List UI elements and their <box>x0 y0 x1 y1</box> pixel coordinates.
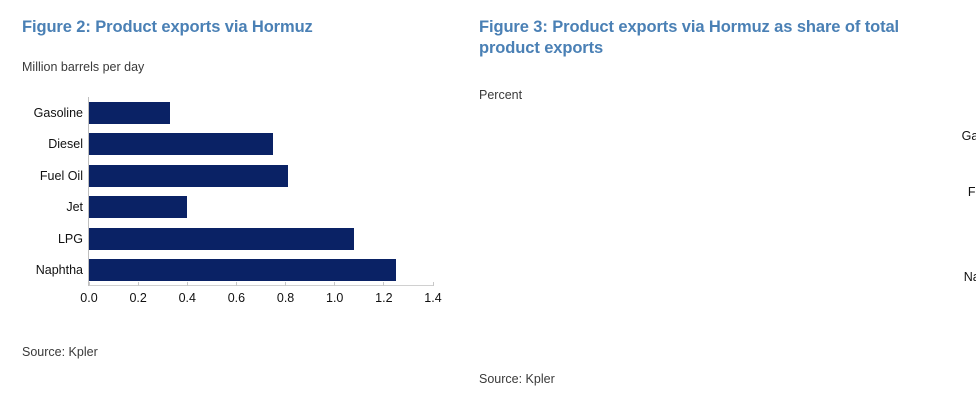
figure-2-category-label: Jet <box>0 192 83 224</box>
figure-3-category-label: LPG <box>940 235 976 263</box>
figure-2-panel: Figure 2: Product exports via Hormuz Mil… <box>0 0 470 401</box>
figure-2-category-axis: GasolineDieselFuel OilJetLPGNaphtha <box>0 97 83 286</box>
figure-2-x-tick-label: 1.4 <box>424 291 441 305</box>
figure-2-category-label: Gasoline <box>0 97 83 129</box>
figure-2-x-tick-label: 1.0 <box>326 291 343 305</box>
figure-2-x-tick-mark <box>433 282 434 286</box>
figure-2-category-label: Diesel <box>0 129 83 161</box>
figure-2-x-tick-label: 0.2 <box>129 291 146 305</box>
figure-2-x-tick-label: 1.2 <box>375 291 392 305</box>
figure-2-bar <box>89 196 187 218</box>
figure-2-bar <box>89 228 354 250</box>
figure-2-plot-area: 0.00.20.40.60.81.01.21.4 <box>89 97 433 312</box>
figure-2-x-tick-mark <box>383 282 384 286</box>
figure-2-bar-row <box>89 192 433 224</box>
figure-3-title: Figure 3: Product exports via Hormuz as … <box>479 17 939 59</box>
figure-2-source: Source: Kpler <box>22 345 98 359</box>
figure-2-category-label: Naphtha <box>0 255 83 287</box>
figure-2-x-tick-label: 0.8 <box>277 291 294 305</box>
figure-3-source: Source: Kpler <box>479 372 555 386</box>
figure-2-bar <box>89 133 273 155</box>
figure-2-bar-row <box>89 255 433 287</box>
figure-3-category-label: Jet <box>940 207 976 235</box>
figure-2-bar-row <box>89 129 433 161</box>
figure-2-chart: GasolineDieselFuel OilJetLPGNaphtha 0.00… <box>0 97 450 312</box>
figure-2-x-tick-mark <box>138 282 139 286</box>
figure-2-x-tick-mark <box>236 282 237 286</box>
figure-2-bar <box>89 102 170 124</box>
figure-3-category-label: Naphtha <box>940 263 976 291</box>
figure-2-subtitle: Million barrels per day <box>22 60 144 74</box>
figure-2-bar <box>89 165 288 187</box>
figure-3-category-axis: GasolineDieselFuel OilJetLPGNaphtha <box>940 122 976 291</box>
figure-2-x-tick-mark <box>89 282 90 286</box>
figure-3-category-label: Diesel <box>940 150 976 178</box>
figure-2-x-axis-ticks: 0.00.20.40.60.81.01.21.4 <box>89 286 433 312</box>
figure-2-x-tick-label: 0.4 <box>179 291 196 305</box>
figure-2-title: Figure 2: Product exports via Hormuz <box>22 17 442 38</box>
figure-2-x-tick-label: 0.0 <box>80 291 97 305</box>
figure-2-bar-row <box>89 160 433 192</box>
figure-2-x-tick-mark <box>285 282 286 286</box>
figure-3-category-label: Fuel Oil <box>940 178 976 206</box>
figure-2-category-label: LPG <box>0 223 83 255</box>
figure-3-panel: Figure 3: Product exports via Hormuz as … <box>470 0 976 401</box>
figure-2-bar <box>89 259 396 281</box>
figure-3-category-label: Gasoline <box>940 122 976 150</box>
figure-2-x-tick-label: 0.6 <box>228 291 245 305</box>
figures-page: Figure 2: Product exports via Hormuz Mil… <box>0 0 976 401</box>
figure-2-bars <box>89 97 433 286</box>
figure-2-bar-row <box>89 97 433 129</box>
figure-2-category-label: Fuel Oil <box>0 160 83 192</box>
figure-3-chart: GasolineDieselFuel OilJetLPGNaphtha 0%5%… <box>470 122 970 317</box>
figure-2-x-tick-mark <box>187 282 188 286</box>
figure-2-bar-row <box>89 223 433 255</box>
figure-2-x-tick-mark <box>334 282 335 286</box>
figure-3-subtitle: Percent <box>479 88 522 102</box>
